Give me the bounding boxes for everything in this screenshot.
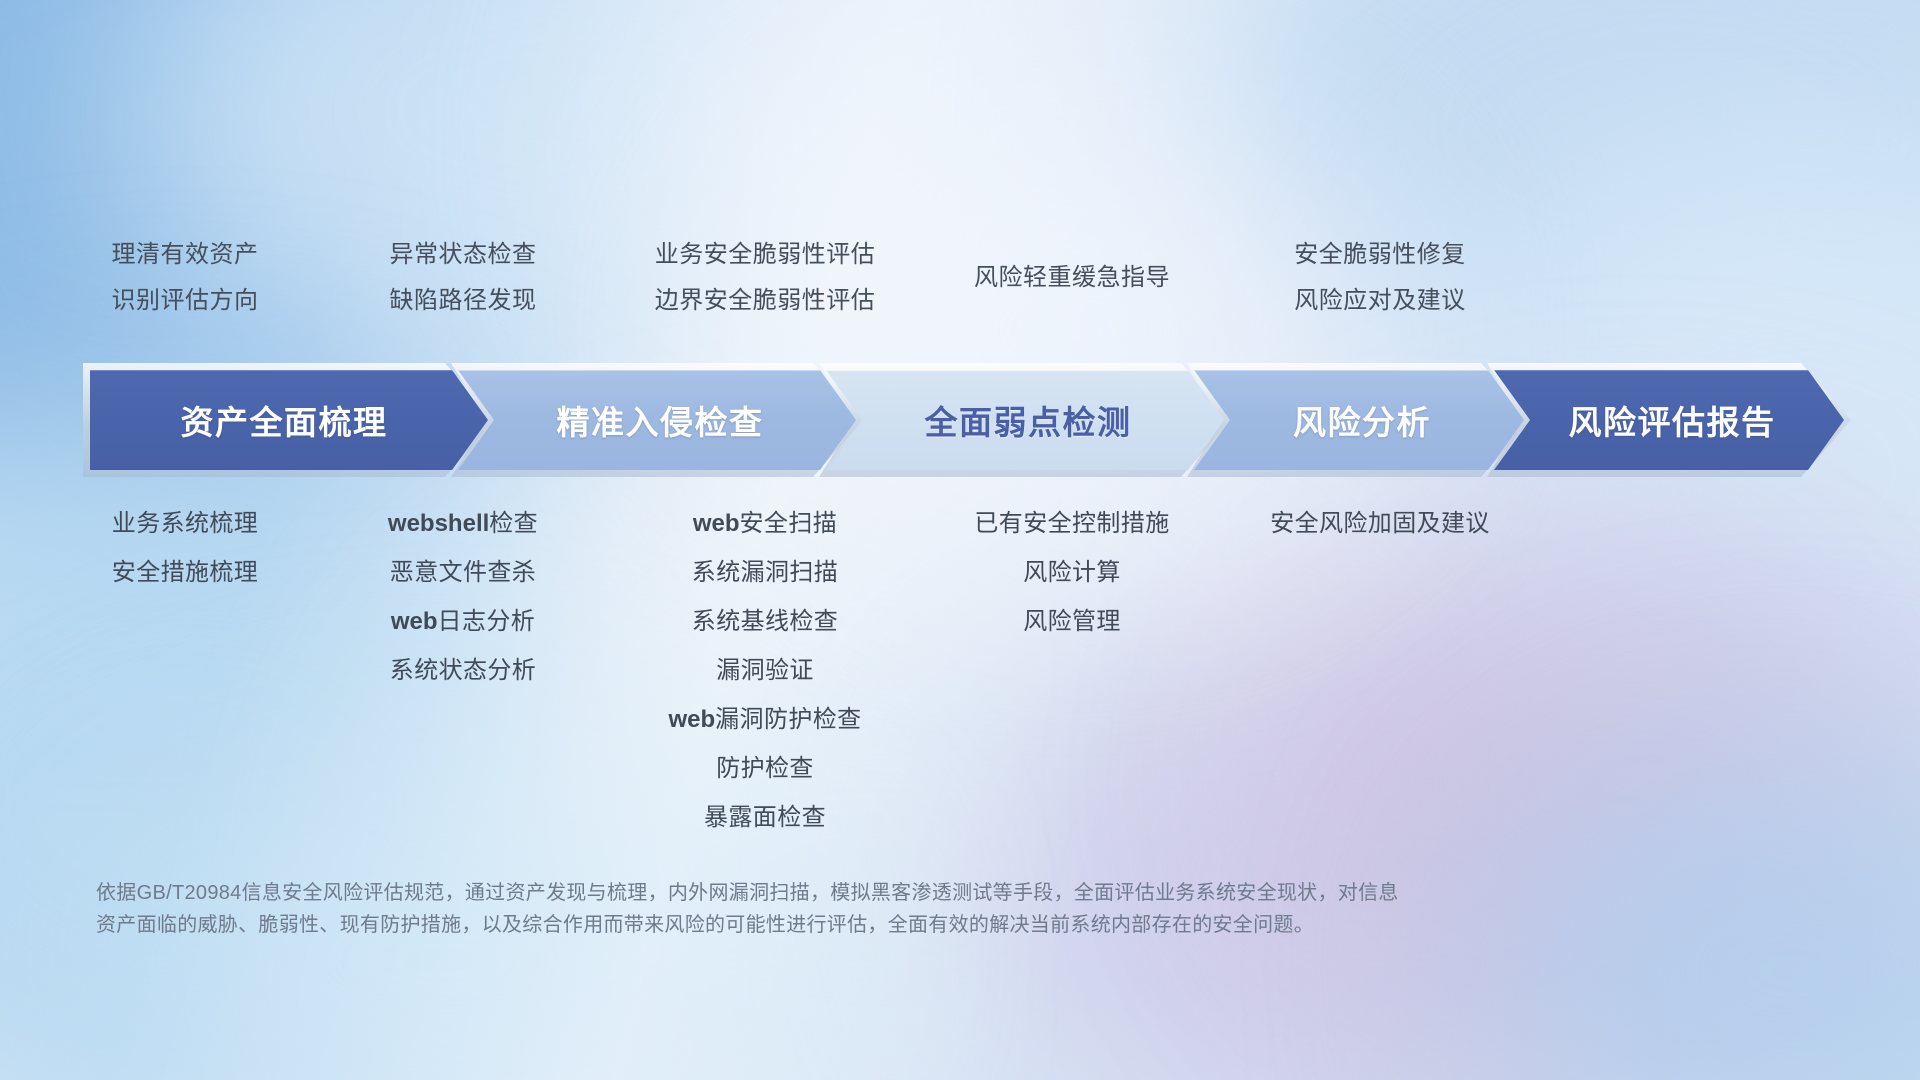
list-item: web日志分析 bbox=[388, 610, 538, 634]
detail-list-intrusion-check: webshell检查恶意文件查杀web日志分析系统状态分析 bbox=[388, 512, 538, 683]
footer-line-1: 依据GB/T20984信息安全风险评估规范，通过资产发现与梳理，内外网漏洞扫描，… bbox=[96, 877, 1736, 909]
list-item: 暴露面检查 bbox=[668, 806, 861, 830]
list-item-latin: web bbox=[693, 510, 740, 537]
detail-list-risk-report: 安全风险加固及建议 bbox=[1270, 512, 1490, 536]
list-item: webshell检查 bbox=[388, 512, 538, 536]
list-item-text: 系统基线检查 bbox=[692, 608, 838, 635]
list-item-text: 恶意文件查杀 bbox=[390, 559, 536, 586]
top-caption: 安全脆弱性修复 bbox=[1294, 243, 1466, 267]
stage-label: 全面弱点检测 bbox=[925, 396, 1132, 444]
top-caption: 业务安全脆弱性评估 bbox=[655, 243, 876, 267]
stage-label: 资产全面梳理 bbox=[181, 396, 388, 444]
footer-description: 依据GB/T20984信息安全风险评估规范，通过资产发现与梳理，内外网漏洞扫描，… bbox=[96, 877, 1736, 941]
process-stage-risk-report[interactable]: 风险评估报告 bbox=[1494, 370, 1844, 470]
list-item-text: 暴露面检查 bbox=[704, 804, 826, 831]
list-item-text: 安全措施梳理 bbox=[112, 559, 258, 586]
list-item-text: 漏洞验证 bbox=[716, 657, 814, 684]
footer-line-2: 资产面临的威胁、脆弱性、现有防护措施，以及综合作用而带来风险的可能性进行评估，全… bbox=[96, 909, 1736, 941]
process-stage-intrusion-check[interactable]: 精准入侵检查 bbox=[458, 370, 856, 470]
list-item: 系统漏洞扫描 bbox=[668, 561, 861, 585]
process-chevron-banner: 资产全面梳理精准入侵检查全面弱点检测风险分析风险评估报告 bbox=[90, 370, 1844, 470]
list-item: 系统基线检查 bbox=[668, 610, 861, 634]
list-item-text: 业务系统梳理 bbox=[112, 510, 258, 537]
list-item: 已有安全控制措施 bbox=[974, 512, 1169, 536]
top-caption: 识别评估方向 bbox=[112, 289, 259, 313]
list-item: 恶意文件查杀 bbox=[388, 561, 538, 585]
list-item-text: 漏洞防护检查 bbox=[715, 706, 861, 733]
stage-label: 风险评估报告 bbox=[1569, 396, 1776, 444]
list-item-text: 风险管理 bbox=[1023, 608, 1121, 635]
process-stage-risk-analysis[interactable]: 风险分析 bbox=[1194, 370, 1524, 470]
list-item-latin: webshell bbox=[388, 510, 489, 537]
list-item-text: 安全风险加固及建议 bbox=[1270, 510, 1490, 537]
detail-list-asset-inventory: 业务系统梳理安全措施梳理 bbox=[112, 512, 258, 585]
list-item-latin: web bbox=[668, 706, 715, 733]
list-item: 防护检查 bbox=[668, 757, 861, 781]
detail-list-weakness-detection: web安全扫描系统漏洞扫描系统基线检查漏洞验证web漏洞防护检查防护检查暴露面检… bbox=[668, 512, 861, 830]
list-item: 风险管理 bbox=[974, 610, 1169, 634]
list-item: web安全扫描 bbox=[668, 512, 861, 536]
list-item-text: 已有安全控制措施 bbox=[974, 510, 1169, 537]
list-item: 安全风险加固及建议 bbox=[1270, 512, 1490, 536]
slide-canvas: 理清有效资产识别评估方向异常状态检查缺陷路径发现业务安全脆弱性评估边界安全脆弱性… bbox=[0, 0, 1920, 1080]
list-item-text: 安全扫描 bbox=[740, 510, 838, 537]
list-item-text: 系统状态分析 bbox=[390, 657, 536, 684]
top-caption: 理清有效资产 bbox=[112, 243, 259, 267]
top-caption: 边界安全脆弱性评估 bbox=[655, 289, 876, 313]
list-item-text: 系统漏洞扫描 bbox=[692, 559, 838, 586]
list-item: 漏洞验证 bbox=[668, 659, 861, 683]
list-item: web漏洞防护检查 bbox=[668, 708, 861, 732]
list-item: 风险计算 bbox=[974, 561, 1169, 585]
list-item-text: 风险计算 bbox=[1023, 559, 1121, 586]
list-item-text: 防护检查 bbox=[716, 755, 814, 782]
list-item: 业务系统梳理 bbox=[112, 512, 258, 536]
list-item: 安全措施梳理 bbox=[112, 561, 258, 585]
detail-list-risk-analysis: 已有安全控制措施风险计算风险管理 bbox=[974, 512, 1169, 634]
stage-label: 风险分析 bbox=[1293, 396, 1431, 444]
list-item-latin: web bbox=[391, 608, 438, 635]
process-stage-weakness-detection[interactable]: 全面弱点检测 bbox=[826, 370, 1224, 470]
list-item: 系统状态分析 bbox=[388, 659, 538, 683]
list-item-text: 检查 bbox=[489, 510, 538, 537]
stage-label: 精准入侵检查 bbox=[557, 396, 764, 444]
list-item-text: 日志分析 bbox=[438, 608, 536, 635]
top-caption: 缺陷路径发现 bbox=[390, 289, 537, 313]
process-stage-asset-inventory[interactable]: 资产全面梳理 bbox=[90, 370, 488, 470]
top-caption: 风险应对及建议 bbox=[1294, 289, 1466, 313]
top-caption: 风险轻重缓急指导 bbox=[974, 266, 1170, 290]
top-caption: 异常状态检查 bbox=[390, 243, 537, 267]
